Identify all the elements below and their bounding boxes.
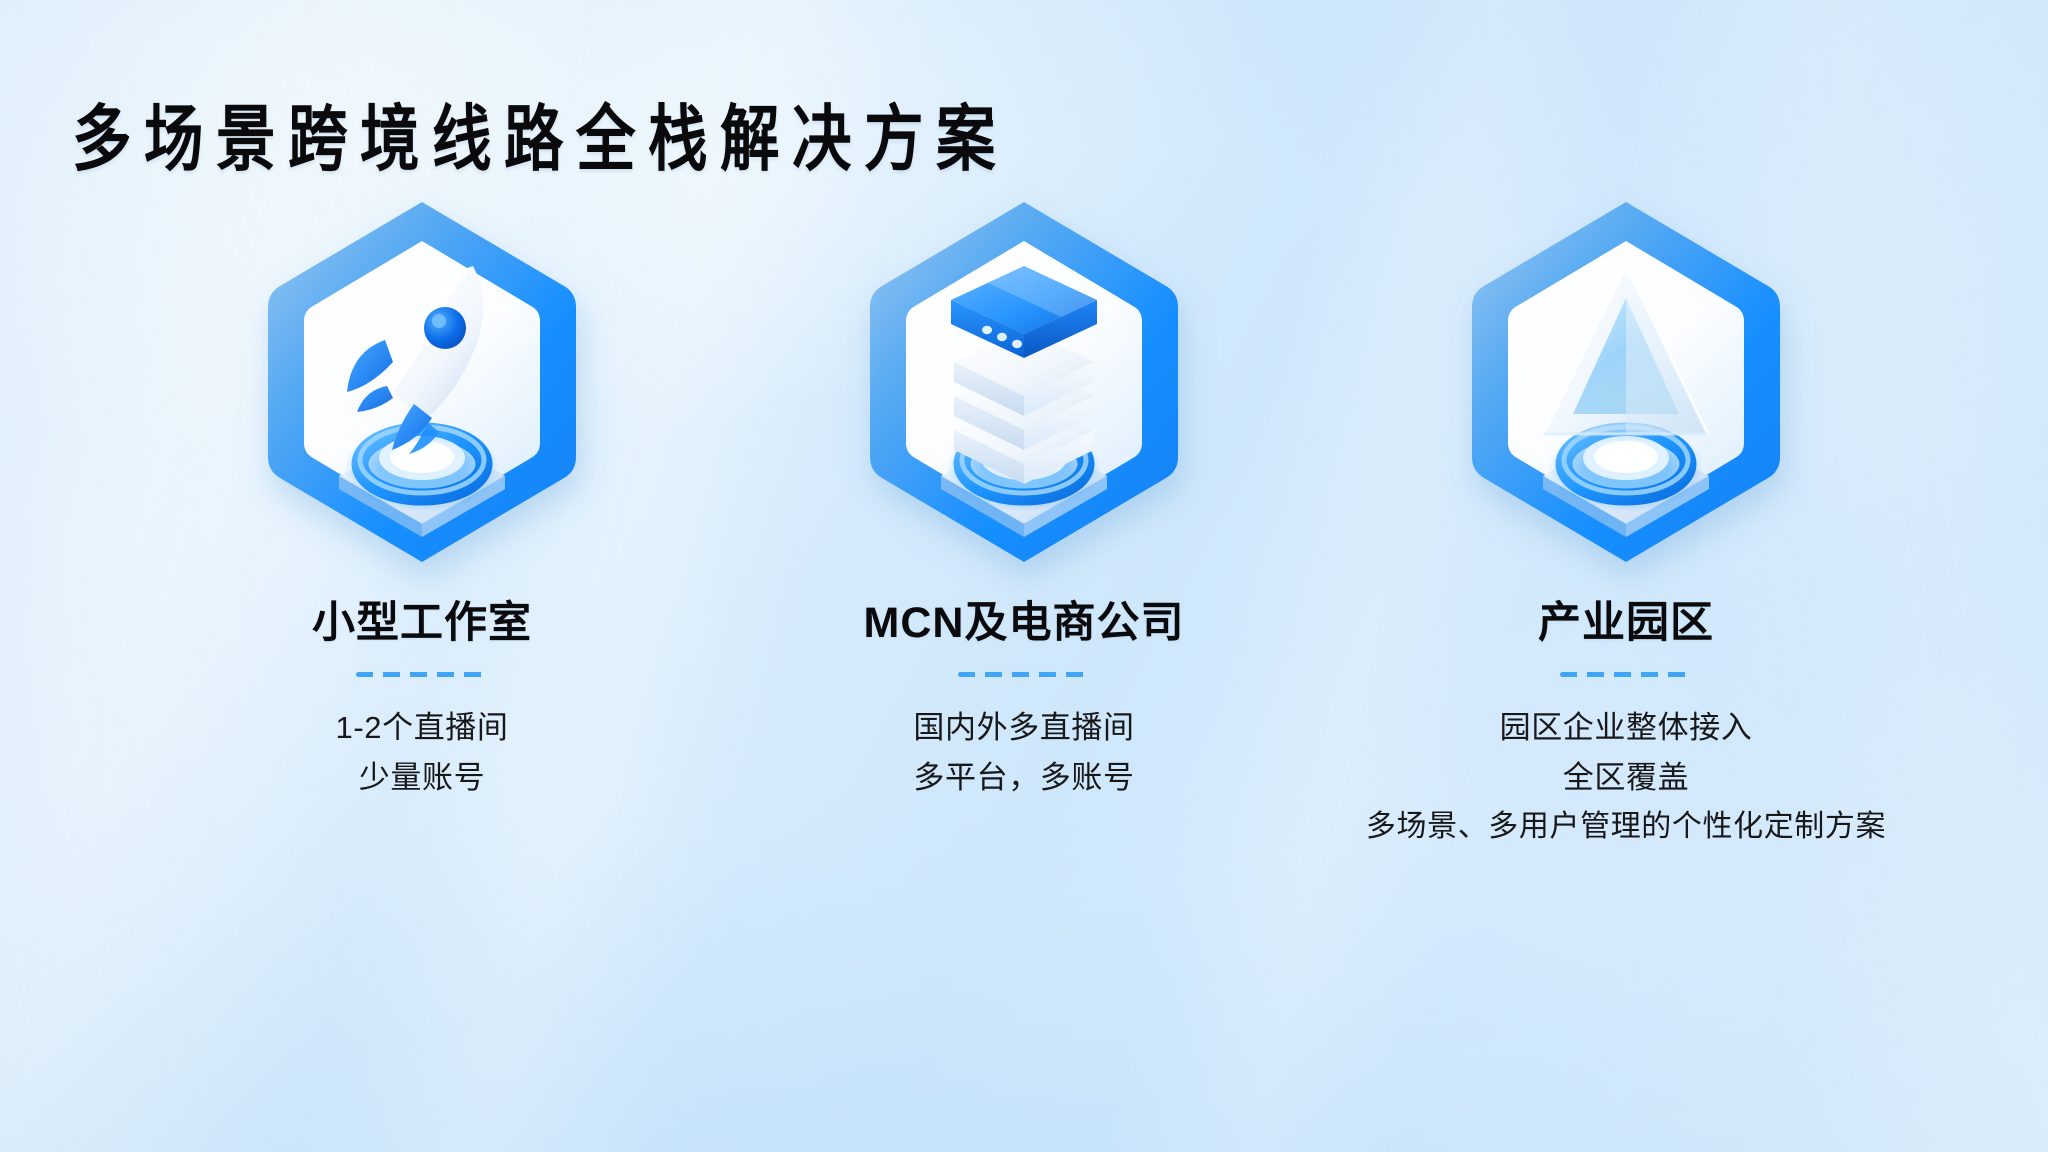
solution-card[interactable]: MCN及电商公司 国内外多直播间 多平台，多账号 [785,196,1263,803]
solution-card[interactable]: 小型工作室 1-2个直播间 少量账号 [183,196,661,803]
solution-card[interactable]: 产业园区 园区企业整体接入 全区覆盖 多场景、多用户管理的个性化定制方案 [1387,196,1865,852]
card-body: 1-2个直播间 少量账号 [335,703,508,803]
card-body-line: 园区企业整体接入 [1366,703,1886,753]
card-body-line: 1-2个直播间 [335,703,508,753]
page-title: 多场景跨境线路全栈解决方案 [72,98,1008,183]
card-body-line: 多场景、多用户管理的个性化定制方案 [1366,803,1886,852]
slide-canvas: 多场景跨境线路全栈解决方案 [0,0,2048,1152]
dashed-divider [958,672,1090,677]
hexagon-badge [259,196,585,568]
hexagon-badge [1463,196,1789,568]
card-title: 产业园区 [1538,598,1714,650]
card-body: 国内外多直播间 多平台，多账号 [913,703,1134,803]
dashed-divider [356,672,488,677]
card-body: 园区企业整体接入 全区覆盖 多场景、多用户管理的个性化定制方案 [1366,703,1886,852]
card-body-line: 多平台，多账号 [913,753,1134,803]
solution-card-row: 小型工作室 1-2个直播间 少量账号 [0,196,2048,852]
hexagon-frame [861,196,1187,568]
card-title: MCN及电商公司 [864,598,1185,650]
card-body-line: 国内外多直播间 [913,703,1134,753]
hexagon-frame [1463,196,1789,568]
hexagon-frame [259,196,585,568]
card-title: 小型工作室 [312,598,532,650]
card-body-line: 少量账号 [335,753,508,803]
card-body-line: 全区覆盖 [1366,753,1886,803]
dashed-divider [1560,672,1692,677]
hexagon-badge [861,196,1187,568]
